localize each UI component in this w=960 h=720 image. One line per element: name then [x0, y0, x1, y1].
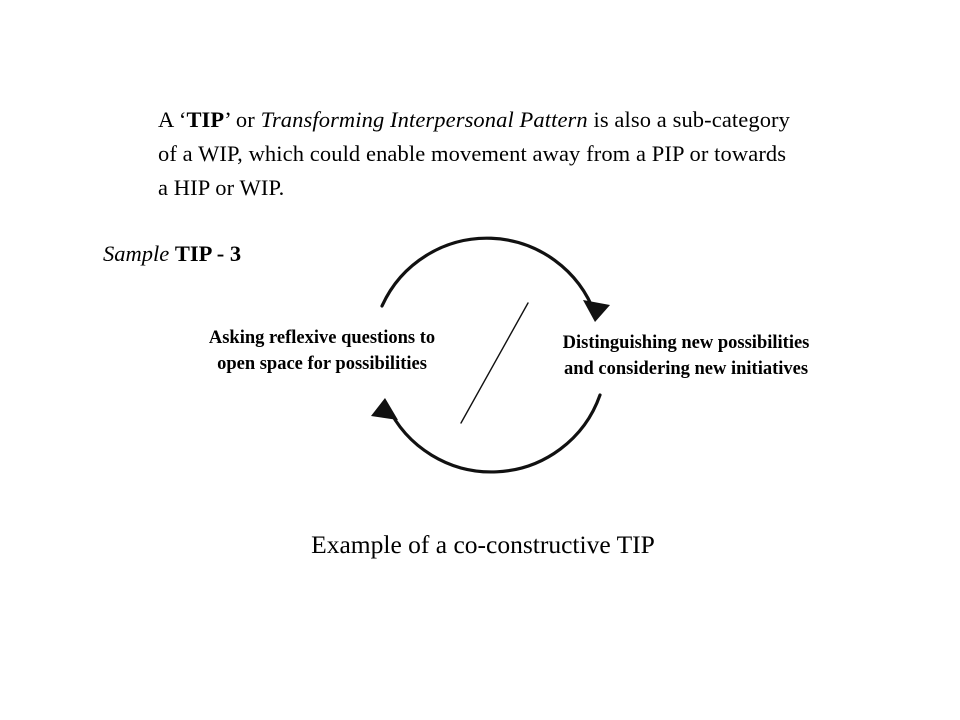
bottom-arc-arrow: [371, 395, 600, 472]
cycle-label-left-line-2: open space for possibilities: [172, 351, 472, 377]
cycle-label-left-line-1: Asking reflexive questions to: [172, 325, 472, 351]
cycle-label-right-line-1: Distinguishing new possibilities: [524, 330, 848, 356]
sample-label-prefix: Sample: [103, 241, 169, 266]
cycle-label-right-line-2: and considering new initiatives: [524, 356, 848, 382]
intro-term-tip: TIP: [186, 107, 224, 132]
top-arc-arrow: [382, 238, 610, 322]
intro-term-expansion: Transforming Interpersonal Pattern: [261, 107, 588, 132]
intro-segment-open: A ‘: [158, 107, 186, 132]
sample-label: Sample TIP - 3: [103, 240, 241, 268]
intro-segment-or: ’ or: [224, 107, 260, 132]
slide-canvas: A ‘TIP’ or Transforming Interpersonal Pa…: [0, 0, 960, 720]
diagram-caption: Example of a co-constructive TIP: [0, 528, 960, 562]
intro-paragraph: A ‘TIP’ or Transforming Interpersonal Pa…: [158, 103, 798, 205]
cycle-label-right: Distinguishing new possibilities and con…: [524, 330, 848, 382]
sample-label-name: TIP - 3: [175, 241, 241, 266]
cycle-label-left: Asking reflexive questions to open space…: [172, 325, 472, 377]
